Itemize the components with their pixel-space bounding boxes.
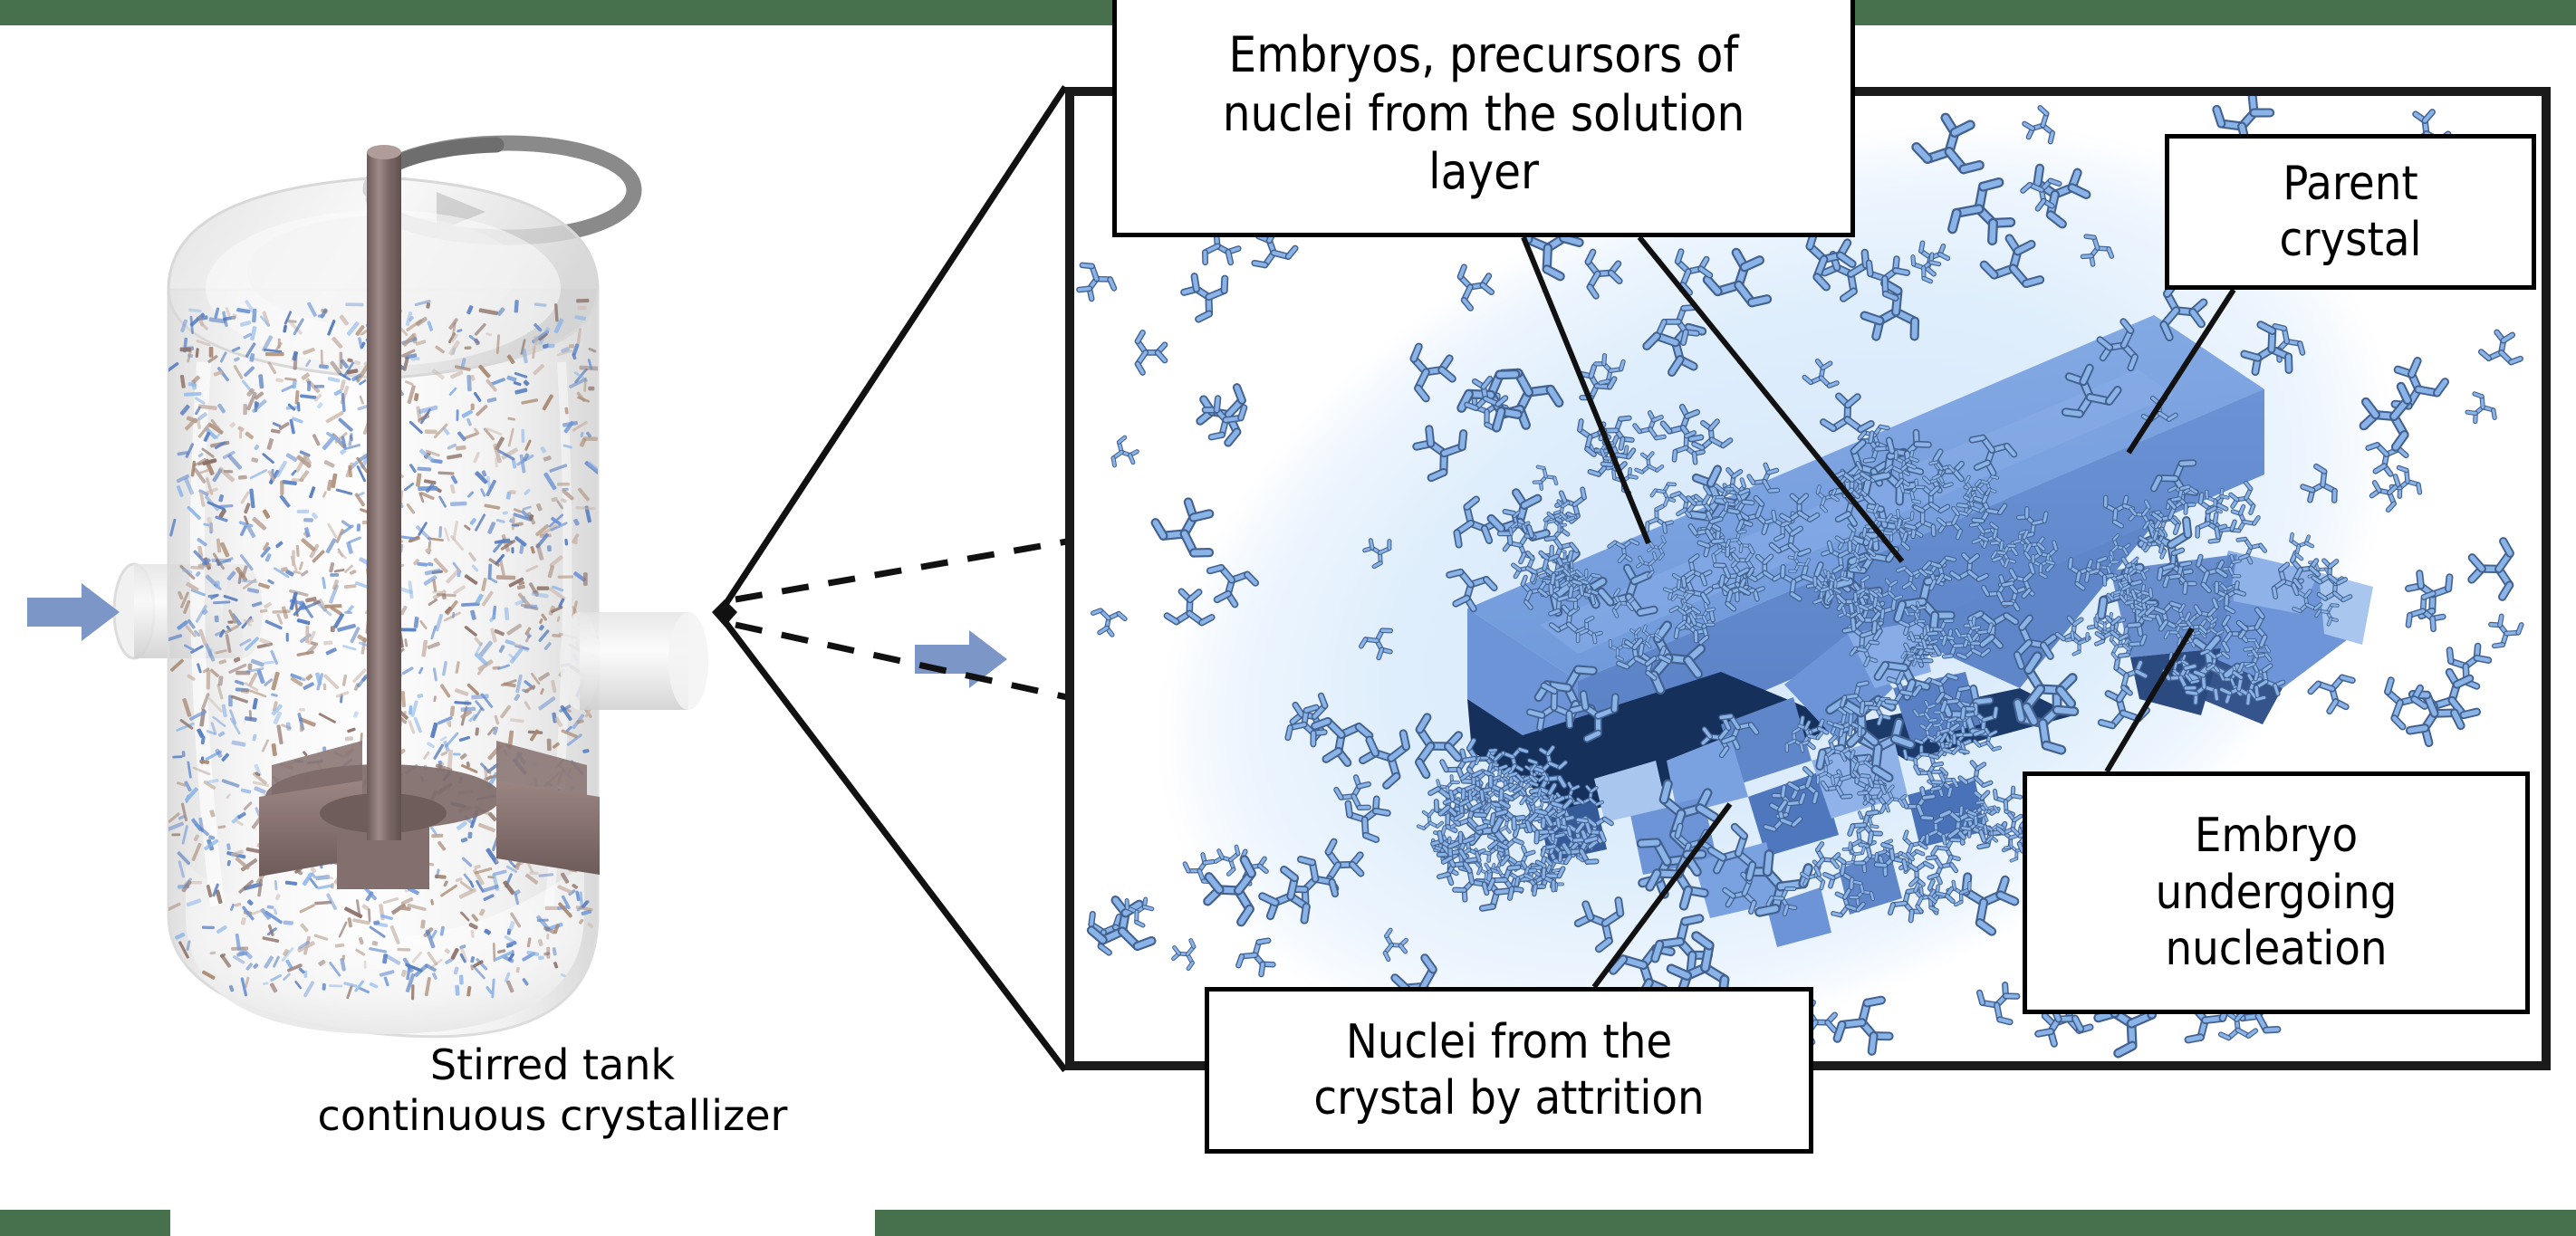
figure-canvas: Embryos, precursors of nuclei from the s… bbox=[0, 0, 2576, 1236]
callout-embryo-nucleation[interactable]: Embryo undergoing nucleation bbox=[2023, 771, 2530, 1014]
callout-parent-line-2: crystal bbox=[2280, 212, 2422, 268]
callout-embryos-line-3: layer bbox=[1428, 143, 1539, 202]
callout-embryos-line-2: nuclei from the solution bbox=[1223, 85, 1745, 144]
callout-parent-crystal[interactable]: Parent crystal bbox=[2165, 134, 2536, 290]
callout-embryo-nucleation-line-3: nucleation bbox=[2165, 921, 2387, 977]
callout-embryos-line-1: Embryos, precursors of bbox=[1229, 26, 1739, 85]
callout-nuclei-line-1: Nuclei from the bbox=[1346, 1014, 1672, 1070]
callout-parent-line-1: Parent bbox=[2283, 156, 2417, 212]
caption-line-2: continuous crystallizer bbox=[263, 1090, 842, 1141]
callout-embryo-nucleation-line-1: Embryo bbox=[2195, 808, 2358, 864]
caption-line-1: Stirred tank bbox=[263, 1040, 842, 1090]
callout-nuclei-attrition[interactable]: Nuclei from the crystal by attrition bbox=[1205, 987, 1813, 1154]
stirred-tank-caption: Stirred tank continuous crystallizer bbox=[263, 1040, 842, 1141]
callout-embryos[interactable]: Embryos, precursors of nuclei from the s… bbox=[1112, 0, 1855, 237]
callout-embryo-nucleation-line-2: undergoing bbox=[2156, 865, 2398, 921]
callout-nuclei-line-2: crystal by attrition bbox=[1313, 1070, 1704, 1126]
